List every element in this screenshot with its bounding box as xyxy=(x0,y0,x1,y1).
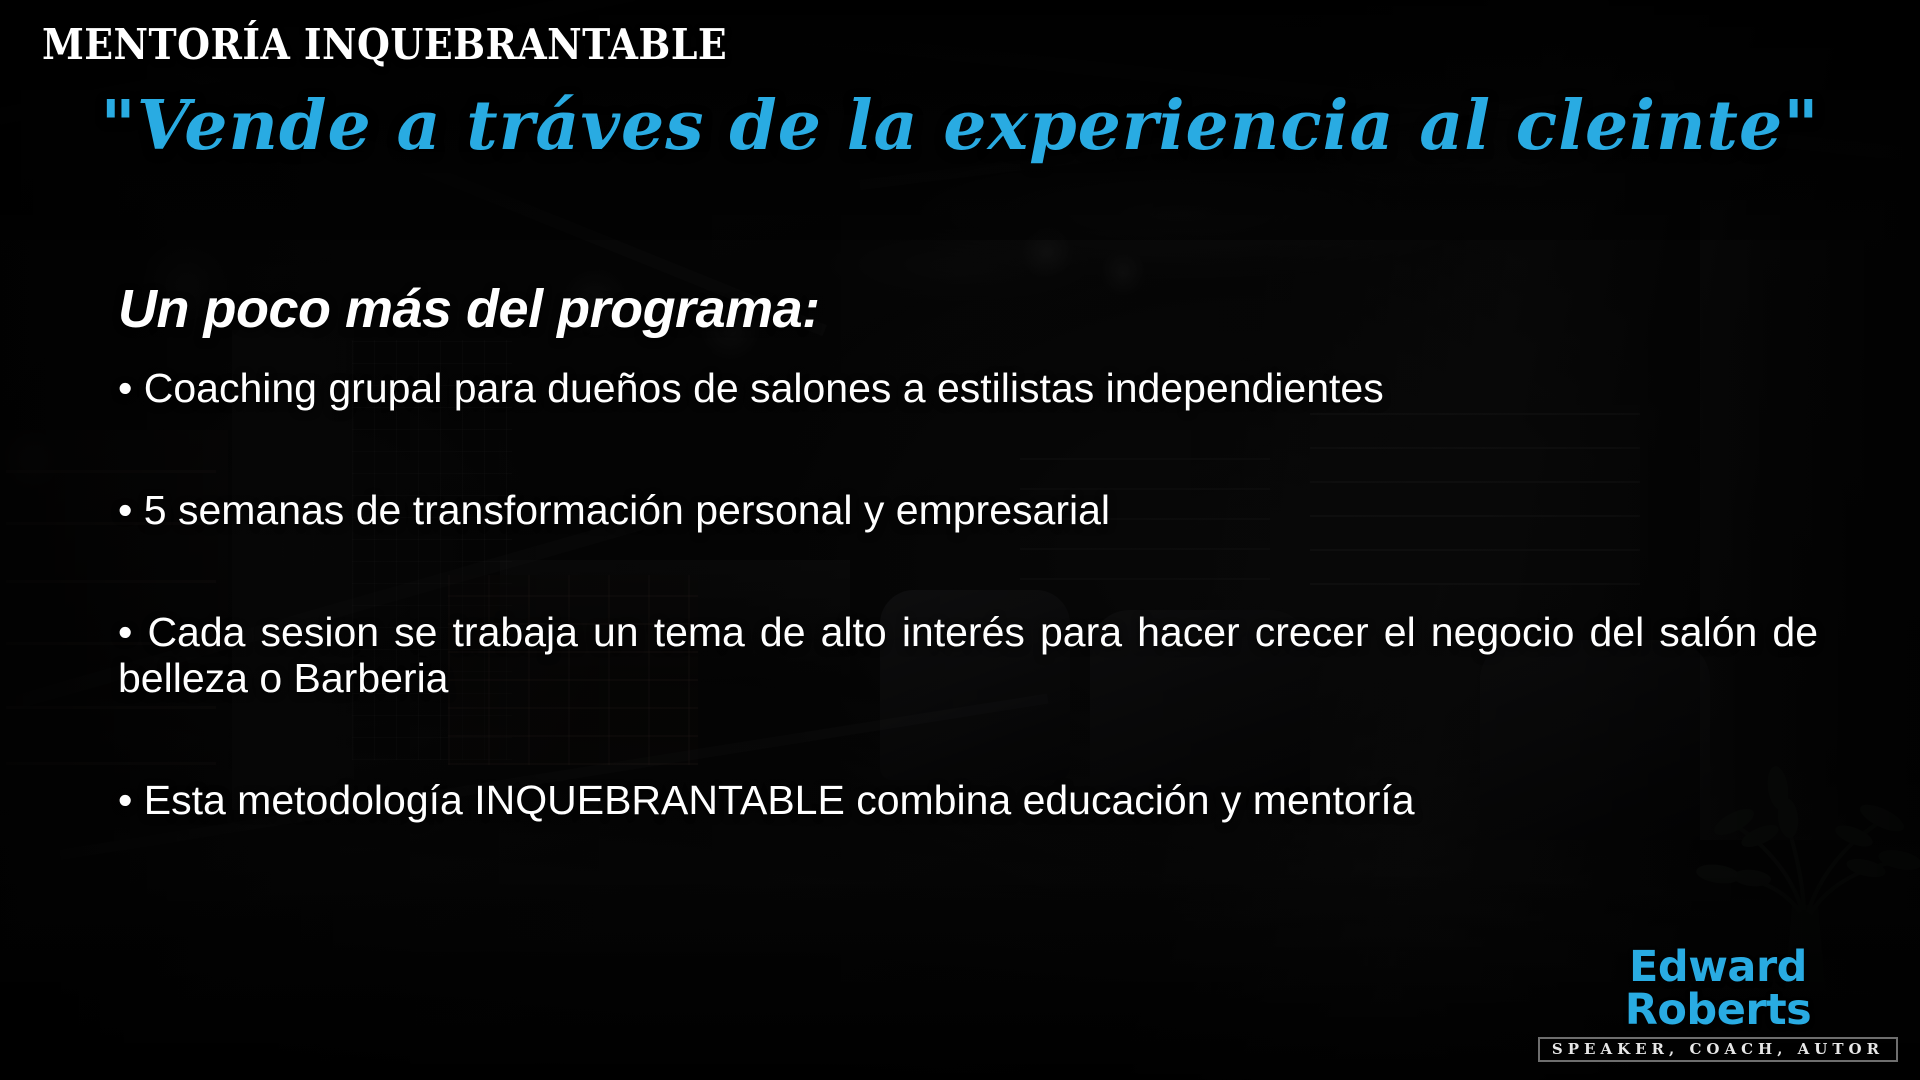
list-item: • Esta metodología INQUEBRANTABLE combin… xyxy=(118,778,1818,824)
logo-tagline: SPEAKER, COACH, AUTOR xyxy=(1538,1037,1898,1063)
page-title: Un poco más del programa: xyxy=(118,278,820,340)
slide-content: MENTORÍA INQUEBRANTABLE "Vende a tráves … xyxy=(0,0,1920,1080)
list-item: • Coaching grupal para dueños de salones… xyxy=(118,366,1818,412)
bullet-list: • Coaching grupal para dueños de salones… xyxy=(118,366,1818,824)
presentation-slide: MENTORÍA INQUEBRANTABLE "Vende a tráves … xyxy=(0,0,1920,1080)
brand-logo: Edward Roberts SPEAKER, COACH, AUTOR xyxy=(1538,946,1898,1063)
logo-name: Edward Roberts xyxy=(1538,946,1898,1032)
slide-script-quote: "Vende a tráves de la experiencia al cle… xyxy=(0,86,1920,166)
slide-kicker-title: MENTORÍA INQUEBRANTABLE xyxy=(42,20,727,69)
list-item: • Cada sesion se trabaja un tema de alto… xyxy=(118,610,1818,702)
list-item: • 5 semanas de transformación personal y… xyxy=(118,488,1818,534)
